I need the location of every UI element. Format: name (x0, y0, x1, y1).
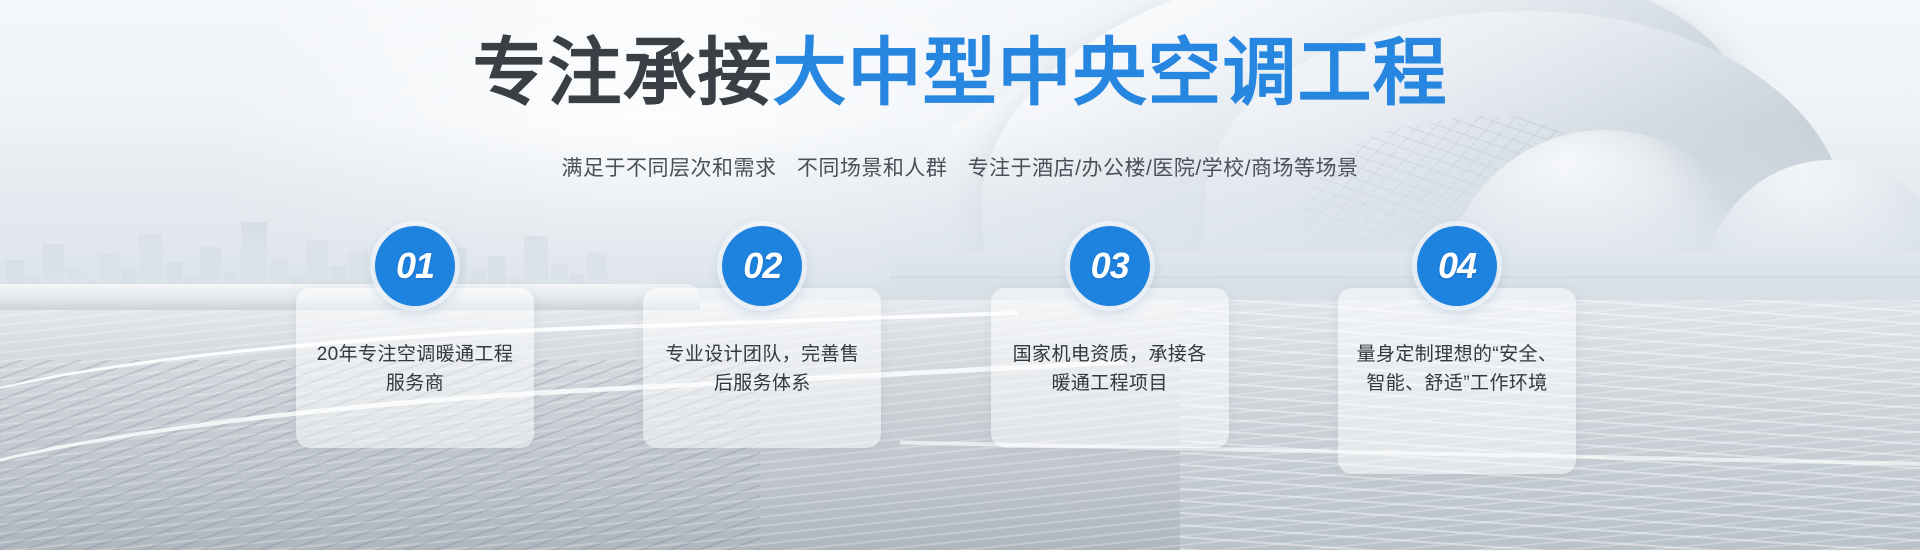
headline-dark-text: 专注承接 (473, 31, 773, 114)
feature-card[interactable]: 02 专业设计团队，完善售后服务体系 (643, 288, 881, 448)
feature-number-badge: 01 (375, 226, 455, 306)
subtitle-segment-3: 专注于酒店/办公楼/医院/学校/商场等场景 (968, 157, 1359, 180)
feature-number: 01 (396, 248, 434, 284)
feature-card-list: 01 20年专注空调暖通工程服务商 02 专业设计团队，完善售后服务体系 03 … (296, 226, 1576, 436)
subtitle-segment-1: 满足于不同层次和需求 (561, 157, 776, 180)
banner-headline: 专注承接大中型中央空调工程 (0, 36, 1920, 110)
feature-number: 02 (743, 248, 781, 284)
feature-card-text: 专业设计团队，完善售后服务体系 (661, 340, 863, 399)
feature-card-text: 国家机电资质，承接各暖通工程项目 (1009, 340, 1211, 399)
feature-card[interactable]: 04 量身定制理想的“安全、智能、舒适”工作环境 (1338, 288, 1576, 474)
banner-subtitle: 满足于不同层次和需求 不同场景和人群 专注于酒店/办公楼/医院/学校/商场等场景 (0, 155, 1920, 182)
headline-blue-text: 大中型中央空调工程 (773, 31, 1448, 114)
feature-number-badge: 04 (1417, 226, 1497, 306)
feature-number-badge: 02 (722, 226, 802, 306)
feature-card[interactable]: 01 20年专注空调暖通工程服务商 (296, 288, 534, 448)
feature-number-badge: 03 (1070, 226, 1150, 306)
subtitle-segment-2: 不同场景和人群 (797, 157, 948, 180)
feature-card[interactable]: 03 国家机电资质，承接各暖通工程项目 (991, 288, 1229, 448)
hero-banner: 专注承接大中型中央空调工程 满足于不同层次和需求 不同场景和人群 专注于酒店/办… (0, 0, 1920, 550)
feature-number: 04 (1438, 248, 1476, 284)
feature-card-text: 20年专注空调暖通工程服务商 (314, 340, 516, 399)
feature-card-text: 量身定制理想的“安全、智能、舒适”工作环境 (1356, 340, 1558, 399)
feature-number: 03 (1091, 248, 1129, 284)
